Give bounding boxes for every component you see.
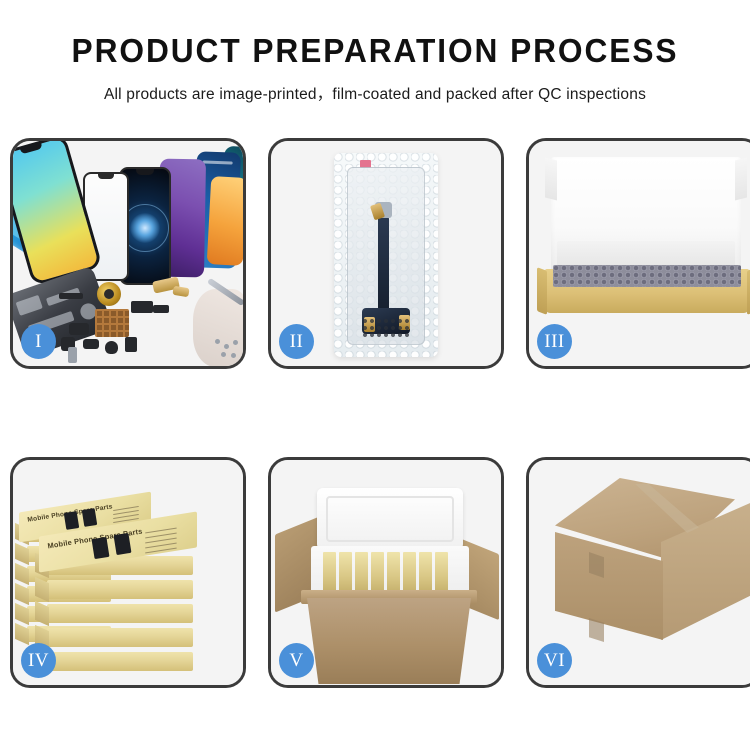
step-badge-2: II [279, 324, 314, 359]
step-badge-6: VI [537, 643, 572, 678]
page-subtitle: All products are image-printed，film-coat… [0, 82, 750, 104]
step-badge-4: IV [21, 643, 56, 678]
wrapped-phone-part [347, 167, 425, 345]
small-part [69, 323, 89, 335]
flex-cable [378, 216, 389, 312]
orange-phone [207, 176, 243, 266]
connector-dots [362, 318, 410, 340]
step-panel-4: Mobile Phone Spare Parts Mobile Phone Sp… [10, 457, 246, 688]
speaker-coil-part [97, 282, 121, 306]
chip-grid-part [95, 309, 129, 337]
step-panel-1: I [10, 138, 246, 369]
step-panel-6: VI [526, 457, 750, 688]
small-part [131, 301, 153, 313]
gray-foam-insert [553, 265, 741, 287]
carton-body [307, 598, 471, 684]
small-part [125, 337, 137, 352]
steps-grid: I II [10, 138, 742, 688]
product-preparation-infographic: PRODUCT PREPARATION PROCESS All products… [0, 0, 750, 750]
gold-connector-part [172, 286, 189, 298]
step-badge-3: III [537, 324, 572, 359]
small-part [105, 341, 118, 354]
step-panel-5: V [268, 457, 504, 688]
screws-group [215, 339, 241, 359]
small-part [59, 293, 83, 299]
step-panel-3: III [526, 138, 750, 369]
foam-box-lid [317, 488, 463, 550]
step-badge-1: I [21, 324, 56, 359]
header: PRODUCT PREPARATION PROCESS All products… [0, 0, 750, 104]
small-part [153, 305, 169, 313]
step-panel-2: II [268, 138, 504, 369]
gold-boxes-inside [323, 552, 457, 594]
step-badge-5: V [279, 643, 314, 678]
bubble-wrap-bag [334, 153, 438, 357]
small-part [68, 347, 77, 363]
small-part [83, 339, 99, 349]
page-title: PRODUCT PREPARATION PROCESS [15, 34, 735, 67]
